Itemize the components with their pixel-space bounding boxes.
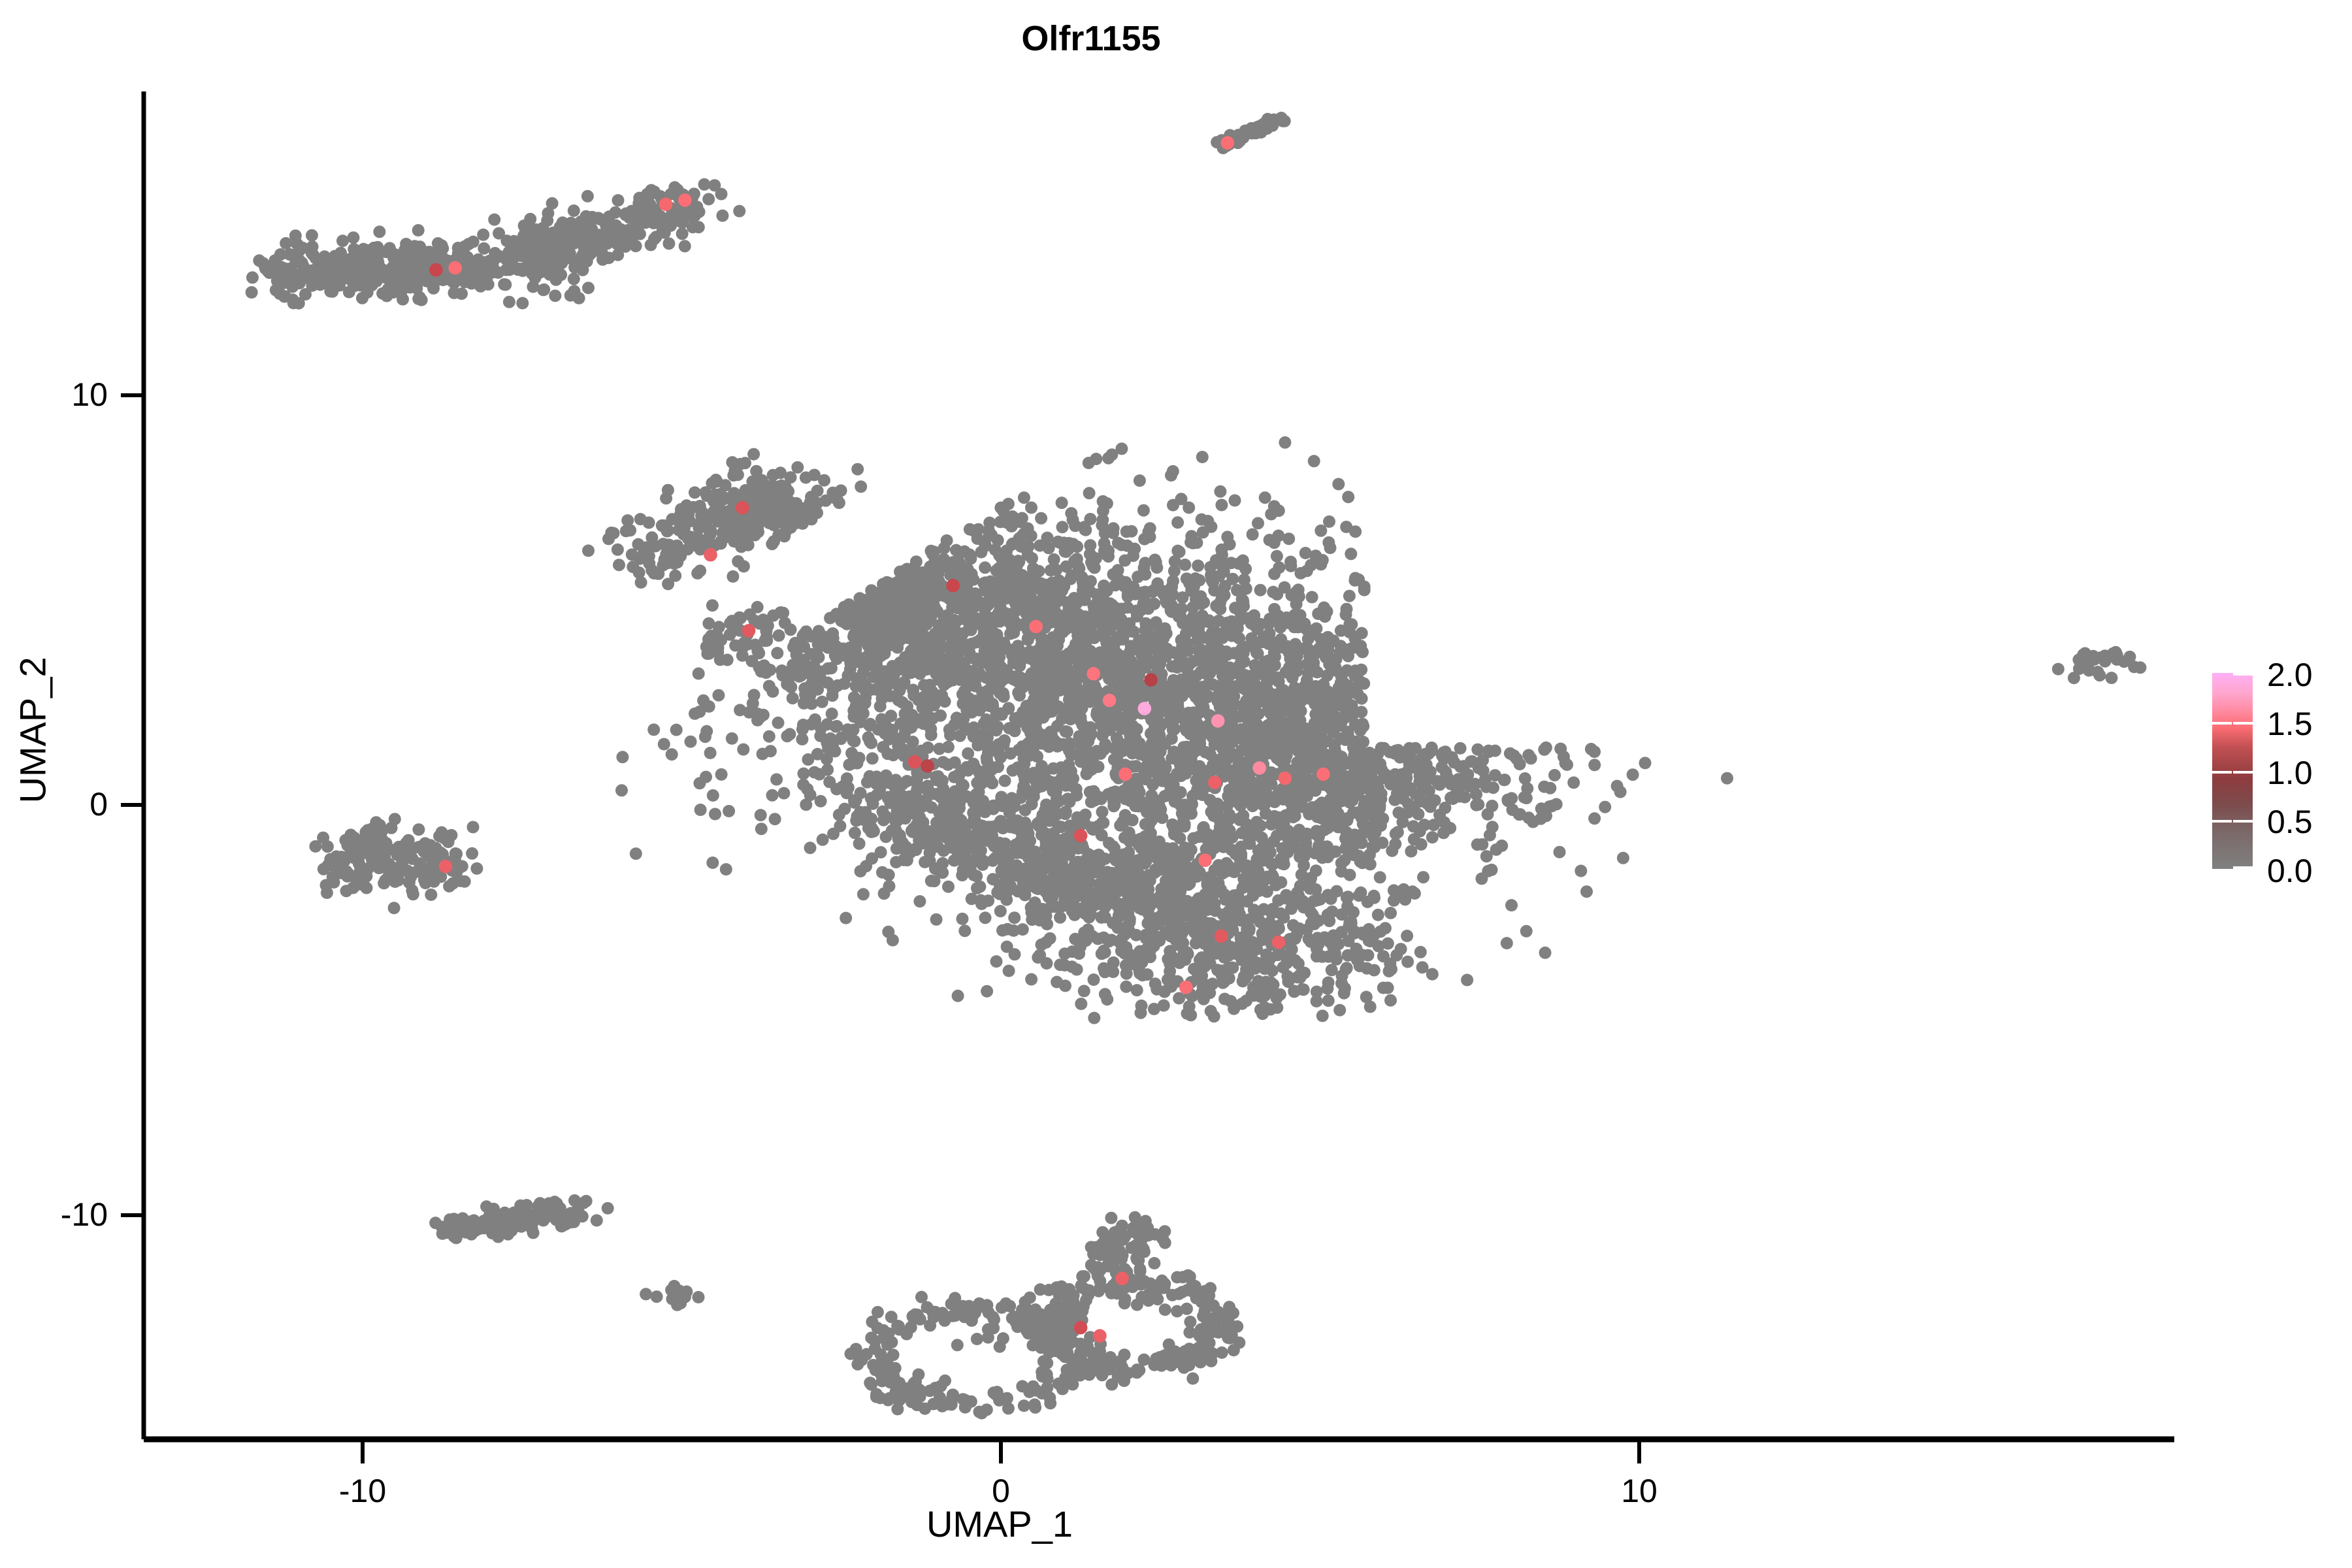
highlighted-point	[736, 501, 749, 515]
highlighted-point	[1074, 829, 1088, 843]
x-tick-label-10: 10	[1574, 1472, 1705, 1510]
x-axis-ticks	[363, 1439, 1639, 1463]
highlighted-point	[678, 193, 692, 207]
colorbar-tick-15b	[2233, 722, 2253, 725]
highlighted-point	[1211, 714, 1225, 728]
highlighted-point	[1208, 776, 1222, 789]
highlighted-point	[1093, 1329, 1107, 1343]
highlighted-point	[429, 263, 443, 277]
highlighted-point	[908, 755, 922, 769]
colorbar-label-2: 2.0	[2267, 656, 2313, 694]
y-axis-title: UMAP_2	[12, 600, 54, 861]
colorbar-tick-05a	[2212, 820, 2232, 823]
colorbar-tick-10a	[2212, 771, 2232, 774]
highlighted-point	[1144, 673, 1158, 687]
highlighted-point	[1198, 853, 1212, 867]
highlighted-point	[1252, 761, 1266, 775]
highlighted-point	[439, 860, 453, 874]
highlighted-point	[1119, 768, 1132, 781]
highlighted-point	[1316, 768, 1330, 781]
colorbar-tick-05b	[2233, 820, 2253, 823]
highlighted-point	[1221, 136, 1235, 150]
x-tick-label-neg10: -10	[297, 1472, 428, 1510]
colorbar-label-0: 0.0	[2267, 852, 2313, 890]
highlighted-point	[1103, 694, 1117, 708]
highlighted-point	[1115, 1272, 1129, 1286]
colorbar-label-05: 0.5	[2267, 803, 2313, 841]
x-axis-title: UMAP_1	[764, 1503, 1235, 1545]
y-tick-label-10: 10	[0, 376, 108, 414]
scatter-plot-canvas	[0, 0, 2352, 1568]
highlighted-point	[1179, 981, 1193, 994]
colorbar-tick-15a	[2212, 722, 2232, 725]
highlighted-point	[1086, 667, 1100, 681]
colorbar-label-15: 1.5	[2267, 705, 2313, 743]
umap-feature-plot: Olfr1155 10 0 -10 -10 0 10 UMAP_2 UMAP_1	[0, 0, 2352, 1568]
highlighted-point	[742, 624, 756, 638]
highlighted-point	[1074, 1321, 1088, 1335]
colorbar-tick-10b	[2233, 771, 2253, 774]
highlighted-point	[946, 579, 960, 593]
highlighted-point	[1272, 936, 1286, 949]
highlighted-point	[659, 197, 673, 211]
highlighted-point	[704, 548, 717, 562]
highlighted-point	[1138, 702, 1152, 715]
colorbar-tick-0	[2233, 866, 2253, 869]
highlighted-point	[921, 759, 934, 773]
y-tick-label-neg10: -10	[0, 1196, 108, 1233]
y-axis-ticks	[121, 395, 144, 1215]
colorbar-tick-2	[2233, 673, 2253, 676]
highlighted-point	[1029, 620, 1043, 634]
highlighted-point	[1215, 930, 1228, 943]
highlighted-point	[448, 261, 462, 275]
highlighted-point	[1279, 772, 1292, 785]
colorbar-label-10: 1.0	[2267, 754, 2313, 792]
points-layer	[246, 112, 2147, 1420]
